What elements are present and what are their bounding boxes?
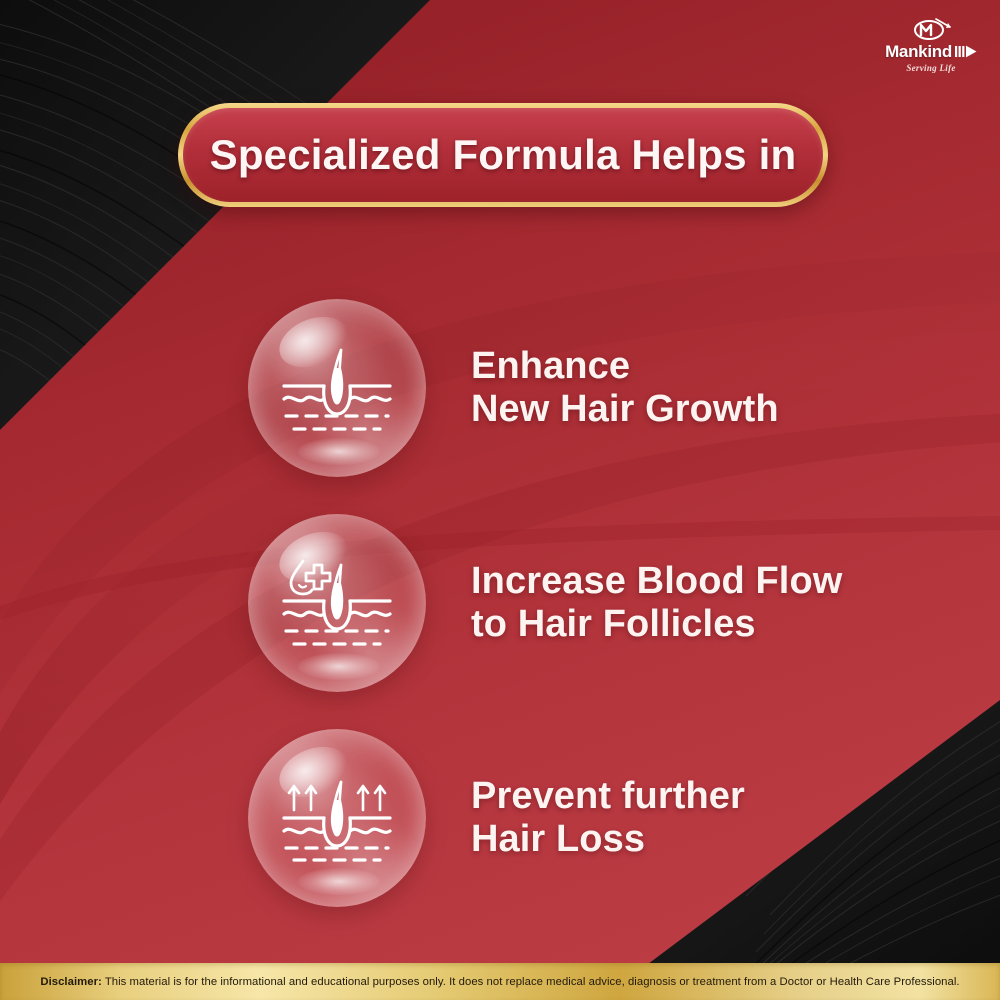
benefit-row: Prevent further Hair Loss [248,723,948,913]
benefit-row: Enhance New Hair Growth [248,293,948,483]
brand-name: Mankind [885,43,952,60]
header-banner: Specialized Formula Helps in [178,103,828,207]
follicle-up-arrows-icon [248,729,426,907]
brand-logo[interactable]: Mankind Serving Life [876,14,986,76]
benefit-line-2: Hair Loss [471,818,745,861]
blood-drop-cross-follicle-icon [248,514,426,692]
infographic-canvas: Mankind Serving Life Specialized Formula… [0,0,1000,1000]
disclaimer-text: Disclaimer: This material is for the inf… [40,976,959,988]
disclaimer-body: This material is for the informational a… [102,976,960,988]
benefit-text: Prevent further Hair Loss [471,775,745,861]
benefit-line-2: New Hair Growth [471,388,779,431]
benefit-text: Increase Blood Flow to Hair Follicles [471,560,842,646]
benefit-text: Enhance New Hair Growth [471,345,779,431]
benefit-row: Increase Blood Flow to Hair Follicles [248,508,948,698]
benefit-bubble [248,514,426,692]
benefit-line-1: Prevent further [471,775,745,817]
disclaimer-label: Disclaimer: [40,976,101,988]
mankind-oval-m-logo-icon [908,17,954,41]
disclaimer-bar: Disclaimer: This material is for the inf… [0,963,1000,1000]
page-title: Specialized Formula Helps in [210,131,797,179]
benefit-line-1: Enhance [471,345,630,387]
arrow-right-icon [955,45,977,58]
benefit-bubble [248,729,426,907]
brand-tagline: Serving Life [906,63,955,73]
benefit-line-1: Increase Blood Flow [471,560,842,602]
benefit-line-2: to Hair Follicles [471,603,842,646]
benefit-bubble [248,299,426,477]
hair-follicle-icon [248,299,426,477]
